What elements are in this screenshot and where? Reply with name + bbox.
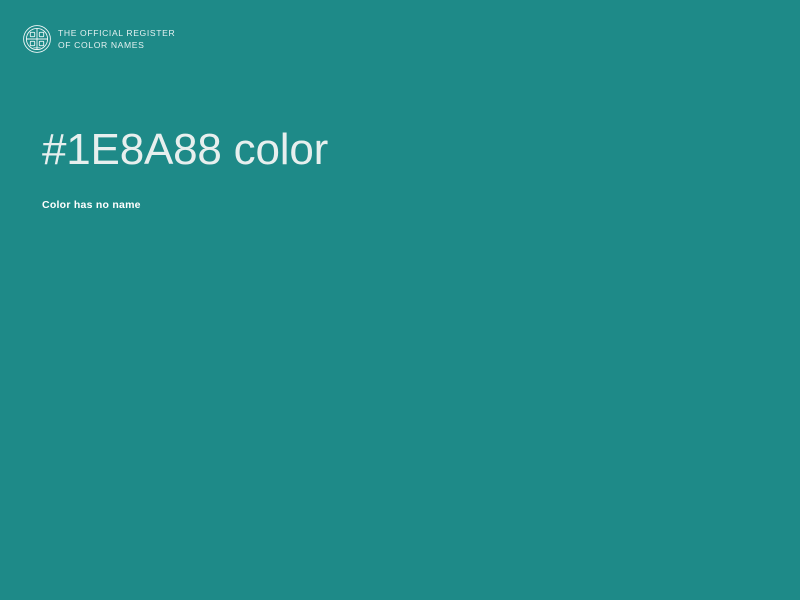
brand-lockup[interactable]: THE OFFICIAL REGISTER OF COLOR NAMES [22, 24, 175, 54]
color-name-status: Color has no name [42, 198, 141, 212]
brand-line-2: OF COLOR NAMES [58, 40, 175, 52]
brand-wordmark: THE OFFICIAL REGISTER OF COLOR NAMES [58, 27, 175, 51]
color-info: #1E8A88 color Color has no name [42, 126, 742, 174]
page-title: #1E8A88 color [42, 126, 742, 174]
color-page: THE OFFICIAL REGISTER OF COLOR NAMES #1E… [0, 0, 800, 600]
brand-line-1: THE OFFICIAL REGISTER [58, 28, 175, 40]
register-seal-icon [22, 24, 52, 54]
